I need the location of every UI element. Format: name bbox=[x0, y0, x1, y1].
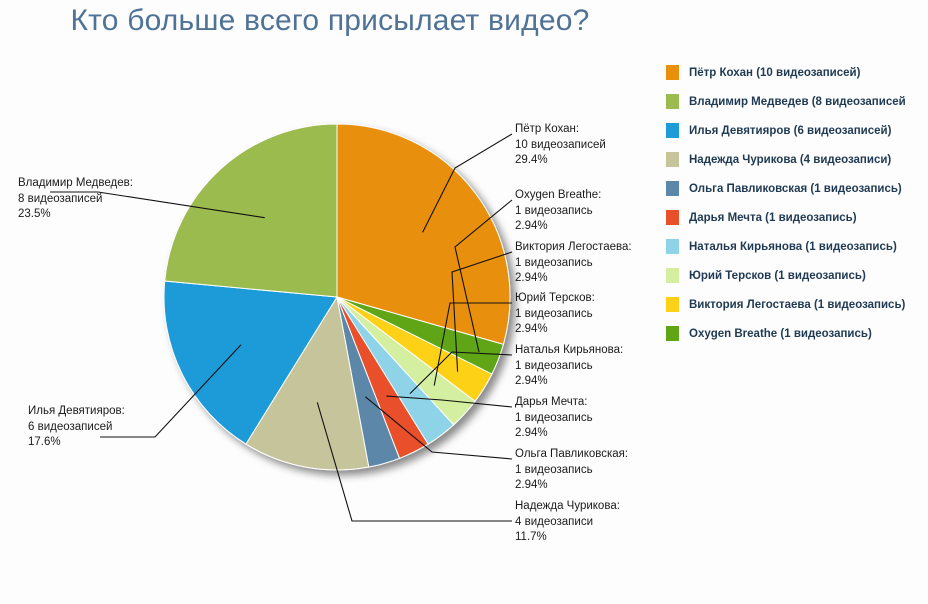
callout-count: 1 видеозапись bbox=[515, 256, 632, 272]
callout-percent: 2.94% bbox=[515, 322, 595, 338]
legend-item-label: Наталья Кирьянова (1 видеозапись) bbox=[689, 241, 897, 253]
callout-natalya-kiryanova: Наталья Кирьянова: 1 видеозапись 2.94% bbox=[515, 343, 623, 390]
callout-viktoria-legostaeva: Виктория Легостаева: 1 видеозапись 2.94% bbox=[515, 240, 632, 287]
callout-count: 8 видеозаписей bbox=[18, 192, 133, 208]
legend-item[interactable]: Ольга Павликовская (1 видеозапись) bbox=[666, 174, 928, 203]
legend-item[interactable]: Наталья Кирьянова (1 видеозапись) bbox=[666, 232, 928, 261]
callout-vladimir-medvedev: Владимир Медведев: 8 видеозаписей 23.5% bbox=[18, 176, 133, 223]
callout-count: 1 видеозапись bbox=[515, 307, 595, 323]
legend-item[interactable]: Дарья Мечта (1 видеозапись) bbox=[666, 203, 928, 232]
callout-percent: 2.94% bbox=[515, 426, 593, 442]
callout-percent: 2.94% bbox=[515, 271, 632, 287]
legend-color-swatch bbox=[666, 152, 679, 167]
callout-count: 1 видеозапись bbox=[515, 463, 628, 479]
legend-color-swatch bbox=[666, 123, 679, 138]
legend-color-swatch bbox=[666, 297, 679, 312]
pie-slices bbox=[164, 124, 510, 470]
callout-name: Надежда Чурикова: bbox=[515, 499, 620, 515]
legend-item-label: Надежда Чурикова (4 видеозаписи) bbox=[689, 154, 891, 166]
callout-name: Виктория Легостаева: bbox=[515, 240, 632, 256]
legend-item-label: Юрий Терсков (1 видеозапись) bbox=[689, 270, 866, 282]
legend-item[interactable]: Владимир Медведев (8 видеозаписей bbox=[666, 87, 928, 116]
legend-item[interactable]: Юрий Терсков (1 видеозапись) bbox=[666, 261, 928, 290]
callout-percent: 11.7% bbox=[515, 530, 620, 546]
callout-count: 4 видеозаписи bbox=[515, 515, 620, 531]
legend-color-swatch bbox=[666, 326, 679, 341]
callout-percent: 2.94% bbox=[515, 478, 628, 494]
callout-percent: 23.5% bbox=[18, 207, 133, 223]
legend-item[interactable]: Илья Девятияров (6 видеозаписей) bbox=[666, 116, 928, 145]
legend-color-swatch bbox=[666, 65, 679, 80]
callout-count: 1 видеозапись bbox=[515, 411, 593, 427]
callout-ilya-devyatiyarov: Илья Девятияров: 6 видеозаписей 17.6% bbox=[28, 404, 125, 451]
callout-count: 1 видеозапись bbox=[515, 359, 623, 375]
callout-percent: 2.94% bbox=[515, 219, 601, 235]
pie-slice[interactable] bbox=[165, 124, 337, 297]
legend-item-label: Дарья Мечта (1 видеозапись) bbox=[689, 212, 857, 224]
legend-item-label: Виктория Легостаева (1 видеозапись) bbox=[689, 299, 905, 311]
callout-name: Пётр Кохан: bbox=[515, 122, 606, 138]
callout-name: Илья Девятияров: bbox=[28, 404, 125, 420]
callout-name: Дарья Мечта: bbox=[515, 395, 593, 411]
callout-olga-pavlikovskaya: Ольга Павликовская: 1 видеозапись 2.94% bbox=[515, 447, 628, 494]
callout-name: Ольга Павликовская: bbox=[515, 447, 628, 463]
legend-item-label: Илья Девятияров (6 видеозаписей) bbox=[689, 125, 891, 137]
legend-item[interactable]: Пётр Кохан (10 видеозаписей) bbox=[666, 58, 928, 87]
callout-yuri-terskov: Юрий Терсков: 1 видеозапись 2.94% bbox=[515, 291, 595, 338]
legend-item-label: Владимир Медведев (8 видеозаписей bbox=[689, 96, 906, 108]
chart-legend: Пётр Кохан (10 видеозаписей)Владимир Мед… bbox=[666, 58, 928, 348]
callout-petr-kohan: Пётр Кохан: 10 видеозаписей 29.4% bbox=[515, 122, 606, 169]
legend-item-label: Ольга Павликовская (1 видеозапись) bbox=[689, 183, 902, 195]
callout-count: 1 видеозапись bbox=[515, 204, 601, 220]
legend-item[interactable]: Oxygen Breathe (1 видеозапись) bbox=[666, 319, 928, 348]
legend-item-label: Oxygen Breathe (1 видеозапись) bbox=[689, 328, 872, 340]
legend-color-swatch bbox=[666, 181, 679, 196]
callout-count: 10 видеозаписей bbox=[515, 138, 606, 154]
callout-percent: 29.4% bbox=[515, 153, 606, 169]
legend-color-swatch bbox=[666, 210, 679, 225]
legend-item[interactable]: Надежда Чурикова (4 видеозаписи) bbox=[666, 145, 928, 174]
callout-nadezhda-churikova: Надежда Чурикова: 4 видеозаписи 11.7% bbox=[515, 499, 620, 546]
legend-color-swatch bbox=[666, 268, 679, 283]
callout-count: 6 видеозаписей bbox=[28, 420, 125, 436]
pie-chart-area: Пётр Кохан: 10 видеозаписей 29.4% Oxygen… bbox=[0, 0, 660, 604]
callout-darya-mechta: Дарья Мечта: 1 видеозапись 2.94% bbox=[515, 395, 593, 442]
pie-slices-group bbox=[164, 124, 510, 470]
legend-item-label: Пётр Кохан (10 видеозаписей) bbox=[689, 67, 860, 79]
legend-color-swatch bbox=[666, 239, 679, 254]
callout-name: Юрий Терсков: bbox=[515, 291, 595, 307]
legend-color-swatch bbox=[666, 94, 679, 109]
callout-oxygen-breathe: Oxygen Breathe: 1 видеозапись 2.94% bbox=[515, 188, 601, 235]
callout-name: Владимир Медведев: bbox=[18, 176, 133, 192]
legend-item[interactable]: Виктория Легостаева (1 видеозапись) bbox=[666, 290, 928, 319]
callout-name: Oxygen Breathe: bbox=[515, 188, 601, 204]
callout-name: Наталья Кирьянова: bbox=[515, 343, 623, 359]
callout-percent: 2.94% bbox=[515, 374, 623, 390]
callout-percent: 17.6% bbox=[28, 435, 125, 451]
